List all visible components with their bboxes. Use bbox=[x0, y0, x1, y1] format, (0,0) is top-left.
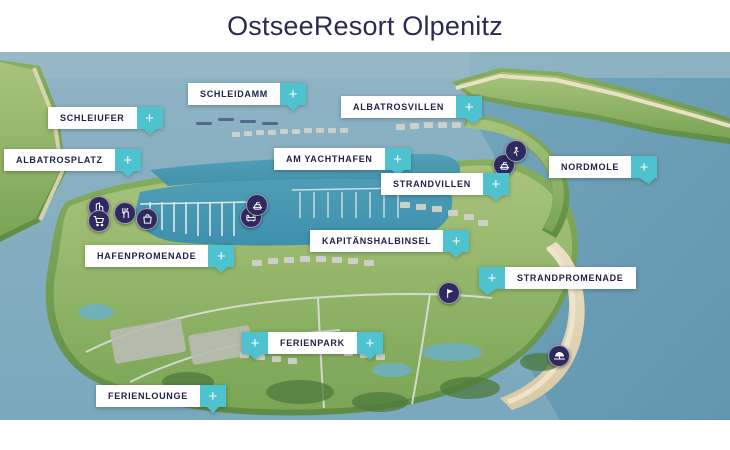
bag-icon[interactable] bbox=[136, 208, 158, 230]
cart-icon[interactable] bbox=[88, 210, 110, 232]
map-marker-schleiufer[interactable]: SCHLEIUFER+ bbox=[48, 107, 163, 129]
map-marker-albatrosvillen[interactable]: ALBATROSVILLEN+ bbox=[341, 96, 482, 118]
map-marker-ferienpark[interactable]: +FERIENPARK+ bbox=[242, 332, 383, 354]
marker-plus-button[interactable]: + bbox=[357, 332, 383, 354]
marker-label[interactable]: ALBATROSPLATZ bbox=[4, 149, 115, 171]
marker-plus-button[interactable]: + bbox=[208, 245, 234, 267]
marker-plus-button[interactable]: + bbox=[456, 96, 482, 118]
golf-icon[interactable] bbox=[438, 282, 460, 304]
marker-plus-button[interactable]: + bbox=[137, 107, 163, 129]
page-title: OstseeResort Olpenitz bbox=[0, 0, 730, 52]
marker-label[interactable]: HAFENPROMENADE bbox=[85, 245, 208, 267]
map-marker-strandpromenade[interactable]: STRANDPROMENADE+ bbox=[479, 267, 636, 289]
marker-plus-button[interactable]: + bbox=[385, 148, 411, 170]
beach-icon[interactable] bbox=[548, 345, 570, 367]
marker-label[interactable]: STRANDVILLEN bbox=[381, 173, 483, 195]
marker-plus-button[interactable]: + bbox=[443, 230, 469, 252]
resort-map[interactable]: SCHLEIUFER+SCHLEIDAMM+ALBATROSVILLEN+ALB… bbox=[0, 52, 730, 420]
map-marker-ferienlounge[interactable]: FERIENLOUNGE+ bbox=[96, 385, 226, 407]
marker-plus-button-secondary[interactable]: + bbox=[242, 332, 268, 354]
marker-label[interactable]: ALBATROSVILLEN bbox=[341, 96, 456, 118]
map-marker-kapit-nshalbinsel[interactable]: KAPITÄNSHALBINSEL+ bbox=[310, 230, 469, 252]
walker-icon[interactable] bbox=[505, 140, 527, 162]
marker-plus-button[interactable]: + bbox=[200, 385, 226, 407]
marker-plus-button[interactable]: + bbox=[483, 173, 509, 195]
marker-label[interactable]: FERIENLOUNGE bbox=[96, 385, 200, 407]
restaurant-icon[interactable] bbox=[114, 202, 136, 224]
map-marker-strandvillen[interactable]: STRANDVILLEN+ bbox=[381, 173, 509, 195]
marker-label[interactable]: KAPITÄNSHALBINSEL bbox=[310, 230, 443, 252]
marker-label[interactable]: FERIENPARK bbox=[268, 332, 357, 354]
marker-plus-button[interactable]: + bbox=[479, 267, 505, 289]
map-marker-am-yachthafen[interactable]: AM YACHTHAFEN+ bbox=[274, 148, 411, 170]
marker-label[interactable]: NORDMOLE bbox=[549, 156, 631, 178]
marker-plus-button[interactable]: + bbox=[115, 149, 141, 171]
marker-label[interactable]: STRANDPROMENADE bbox=[505, 267, 636, 289]
map-marker-schleidamm[interactable]: SCHLEIDAMM+ bbox=[188, 83, 306, 105]
map-marker-nordmole[interactable]: NORDMOLE+ bbox=[549, 156, 657, 178]
page-root: OstseeResort Olpenitz bbox=[0, 0, 730, 450]
marker-plus-button[interactable]: + bbox=[631, 156, 657, 178]
marker-plus-button[interactable]: + bbox=[280, 83, 306, 105]
map-marker-hafenpromenade[interactable]: HAFENPROMENADE+ bbox=[85, 245, 234, 267]
marker-label[interactable]: SCHLEIDAMM bbox=[188, 83, 280, 105]
marker-label[interactable]: AM YACHTHAFEN bbox=[274, 148, 385, 170]
marker-label[interactable]: SCHLEIUFER bbox=[48, 107, 137, 129]
map-marker-albatrosplatz[interactable]: ALBATROSPLATZ+ bbox=[4, 149, 141, 171]
boat-icon[interactable] bbox=[246, 194, 268, 216]
